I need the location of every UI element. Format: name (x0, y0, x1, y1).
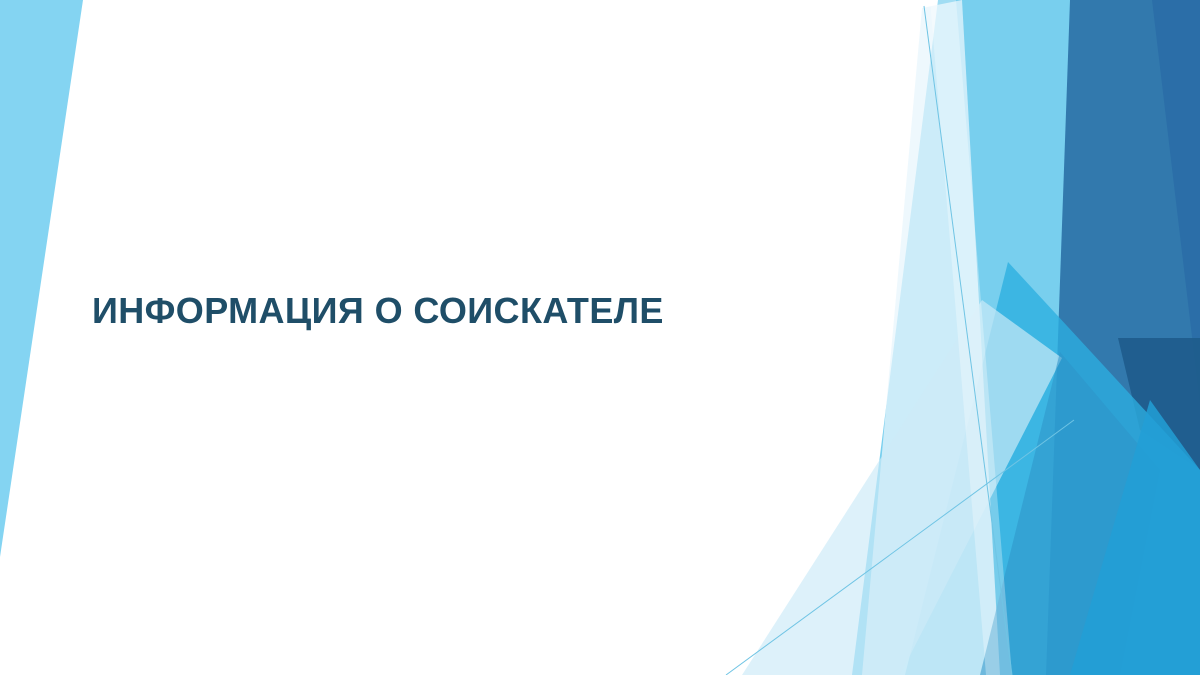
slide-canvas: ИНФОРМАЦИЯ О СОИСКАТЕЛЕ (0, 0, 1200, 675)
pale-lower-wedge-shape (742, 300, 1062, 675)
bright-right-triangle-shape (1070, 400, 1200, 675)
hairline-upper-diagonal-shape (924, 6, 1012, 675)
hairline-group (726, 6, 1074, 675)
pale-left-sliver-shape (862, 0, 1000, 675)
top-left-sky-wedge-shape (0, 0, 83, 557)
bright-cyan-sweep-shape (905, 262, 1200, 675)
soft-top-sliver-shape (930, 0, 1012, 675)
page-title: ИНФОРМАЦИЯ О СОИСКАТЕЛЕ (92, 291, 664, 331)
right-mid-band-shape (1008, 0, 1200, 675)
navy-shard-shape (1118, 338, 1200, 470)
decorative-background (0, 0, 1200, 675)
right-edge-polygon-stack (742, 0, 1200, 675)
slide-background (0, 0, 1200, 675)
hairline-lower-diagonal-shape (726, 420, 1074, 675)
cyan-broad-sheet-shape (852, 0, 1070, 675)
right-deep-band-shape (1045, 0, 1200, 675)
title-placeholder[interactable]: ИНФОРМАЦИЯ О СОИСКАТЕЛЕ (92, 289, 812, 333)
mid-overlap-triangle-shape (980, 352, 1160, 675)
